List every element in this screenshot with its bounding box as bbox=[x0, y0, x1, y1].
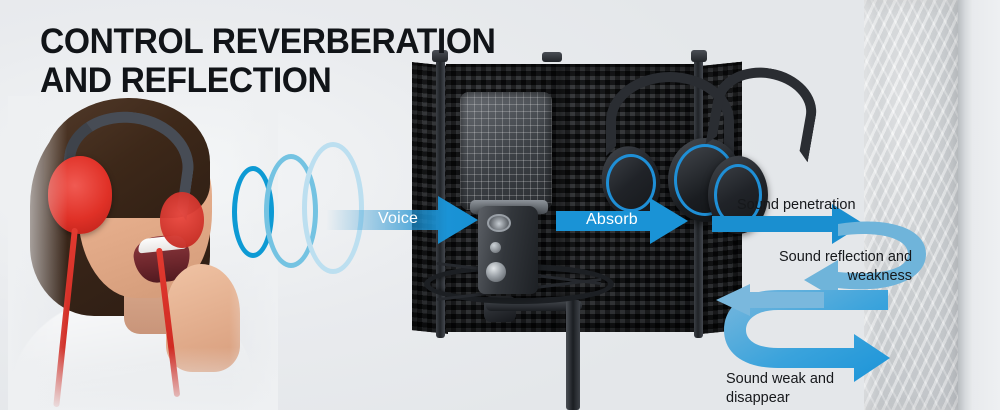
headphones-band-right bbox=[705, 60, 822, 163]
sound-reflection-return-arrow-icon bbox=[716, 284, 824, 316]
sound-reflection-label-line-1: Sound reflection and bbox=[779, 248, 912, 267]
microphone-mute-button bbox=[490, 242, 501, 253]
promo-banner: CONTROL REVERBERATION AND REFLECTION bbox=[0, 0, 1000, 410]
sound-reflection-label-line-2: weakness bbox=[779, 267, 912, 286]
voice-arrow-label: Voice bbox=[378, 210, 418, 228]
voice-flow-arrow: Voice bbox=[326, 196, 478, 244]
singer-hand bbox=[166, 264, 240, 372]
microphone-logo-icon bbox=[487, 214, 511, 232]
mic-stand-post bbox=[566, 300, 580, 410]
sound-reflection-label: Sound reflection and weakness bbox=[779, 248, 912, 285]
condenser-microphone bbox=[460, 92, 572, 292]
sound-weak-label: Sound weak and disappear bbox=[726, 370, 834, 407]
absorb-flow-arrow: Absorb bbox=[556, 198, 688, 244]
wall-background-strip bbox=[972, 0, 1000, 410]
headline-line-2: AND REFLECTION bbox=[40, 61, 496, 100]
sound-weak-label-line-2: disappear bbox=[726, 389, 834, 408]
headphone-earcup-left bbox=[48, 156, 112, 234]
sound-weak-label-line-1: Sound weak and bbox=[726, 370, 834, 389]
sound-penetration-label: Sound penetration bbox=[737, 196, 856, 215]
shield-knob-center bbox=[542, 52, 562, 62]
microphone-gain-dial bbox=[486, 262, 506, 282]
absorb-arrow-label: Absorb bbox=[586, 211, 638, 229]
page-title: CONTROL REVERBERATION AND REFLECTION bbox=[40, 22, 496, 100]
headline-line-1: CONTROL REVERBERATION bbox=[40, 22, 496, 61]
microphone-grille bbox=[460, 92, 552, 210]
headphone-earcup-right bbox=[160, 192, 204, 248]
shield-knob-right bbox=[691, 50, 707, 62]
